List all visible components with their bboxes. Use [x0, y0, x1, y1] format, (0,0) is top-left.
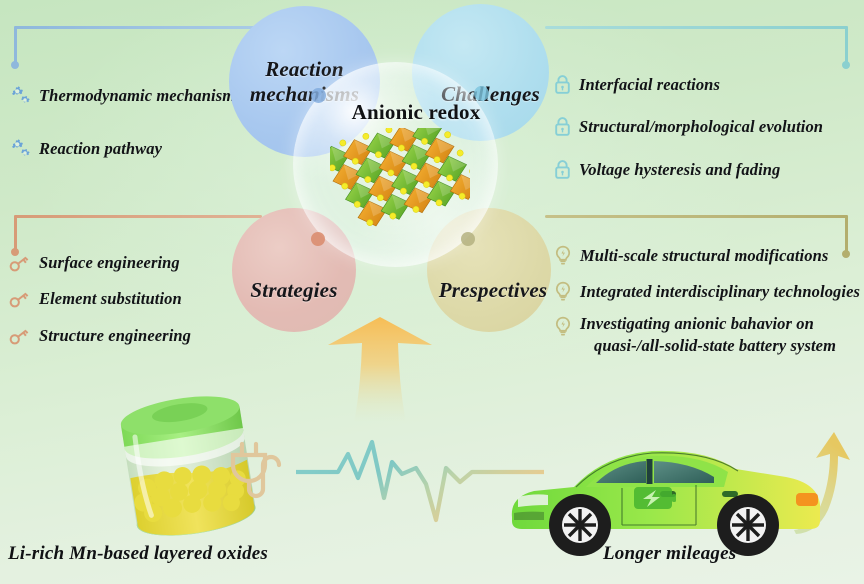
- graphical-abstract: Reaction mechanisms Challenges Strategie…: [0, 0, 864, 584]
- list-item[interactable]: Structural/morphological evolution: [553, 116, 823, 137]
- key-icon: [8, 252, 32, 274]
- list-item-label: Multi-scale structural modifications: [580, 246, 828, 266]
- caption-right: Longer mileages: [603, 543, 736, 565]
- list-item[interactable]: Reaction pathway: [8, 138, 162, 160]
- list-item[interactable]: Integrated interdisciplinary technologie…: [553, 281, 860, 303]
- bracket-horizontal: [545, 26, 848, 29]
- list-item[interactable]: Multi-scale structural modifications: [553, 245, 828, 267]
- bracket-challenges: [545, 26, 850, 68]
- bracket-dot: [842, 61, 850, 69]
- list-item[interactable]: Voltage hysteresis and fading: [553, 159, 780, 180]
- bracket-horizontal: [545, 215, 848, 218]
- bracket-vertical: [845, 26, 848, 64]
- list-item-label: Interfacial reactions: [579, 75, 720, 95]
- lock-icon: [553, 159, 572, 180]
- lightbulb-icon: [553, 281, 573, 303]
- lightbulb-icon: [553, 316, 573, 338]
- list-item[interactable]: Thermodynamic mechanism: [8, 85, 235, 107]
- list-item[interactable]: Surface engineering: [8, 252, 180, 274]
- caption-left: Li-rich Mn-based layered oxides: [8, 543, 268, 565]
- bracket-strategies: [12, 215, 262, 255]
- list-item-label: Surface engineering: [39, 253, 180, 273]
- power-plug-icon: [228, 440, 286, 502]
- list-item[interactable]: Element substitution: [8, 288, 182, 310]
- list-item[interactable]: Investigating anionic bahavior on quasi-…: [553, 313, 864, 358]
- list-item[interactable]: Interfacial reactions: [553, 74, 720, 95]
- page-title: Anionic redox: [331, 100, 501, 125]
- bracket-vertical: [14, 215, 17, 251]
- list-item-label: Reaction pathway: [39, 139, 162, 159]
- accent-dot-strategies: [311, 232, 325, 246]
- list-item-label: Structure engineering: [39, 326, 191, 346]
- key-icon: [8, 288, 32, 310]
- accent-dot-challenges: [474, 86, 489, 101]
- circle-label-strategies: Strategies: [250, 278, 337, 303]
- bracket-horizontal: [14, 215, 262, 218]
- list-item[interactable]: Structure engineering: [8, 325, 191, 347]
- bracket-dot: [11, 61, 19, 69]
- lock-icon: [553, 116, 572, 137]
- gears-icon: [8, 138, 32, 160]
- layered-oxide-crystal-structure: [330, 128, 470, 253]
- key-icon: [8, 325, 32, 347]
- gears-icon: [8, 85, 32, 107]
- bracket-vertical: [14, 26, 17, 64]
- list-item-label: Thermodynamic mechanism: [39, 86, 235, 106]
- list-item-label: Voltage hysteresis and fading: [579, 160, 780, 180]
- bracket-reaction-mechanisms: [12, 26, 262, 68]
- lock-icon: [553, 74, 572, 95]
- bracket-vertical: [845, 215, 848, 253]
- bracket-dot: [842, 250, 850, 258]
- circle-label-prespectives: Prespectives: [439, 278, 548, 303]
- bracket-horizontal: [14, 26, 262, 29]
- lightbulb-icon: [553, 245, 573, 267]
- list-item-label: Element substitution: [39, 289, 182, 309]
- list-item-label: Structural/morphological evolution: [579, 117, 823, 137]
- list-item-label: Integrated interdisciplinary technologie…: [580, 282, 860, 302]
- accent-dot-reaction-mechanisms: [311, 88, 326, 103]
- list-item-label: Investigating anionic bahavior on quasi-…: [580, 313, 864, 358]
- upward-arrow-icon: [320, 315, 440, 425]
- battery-charge-badge-icon: [634, 487, 676, 509]
